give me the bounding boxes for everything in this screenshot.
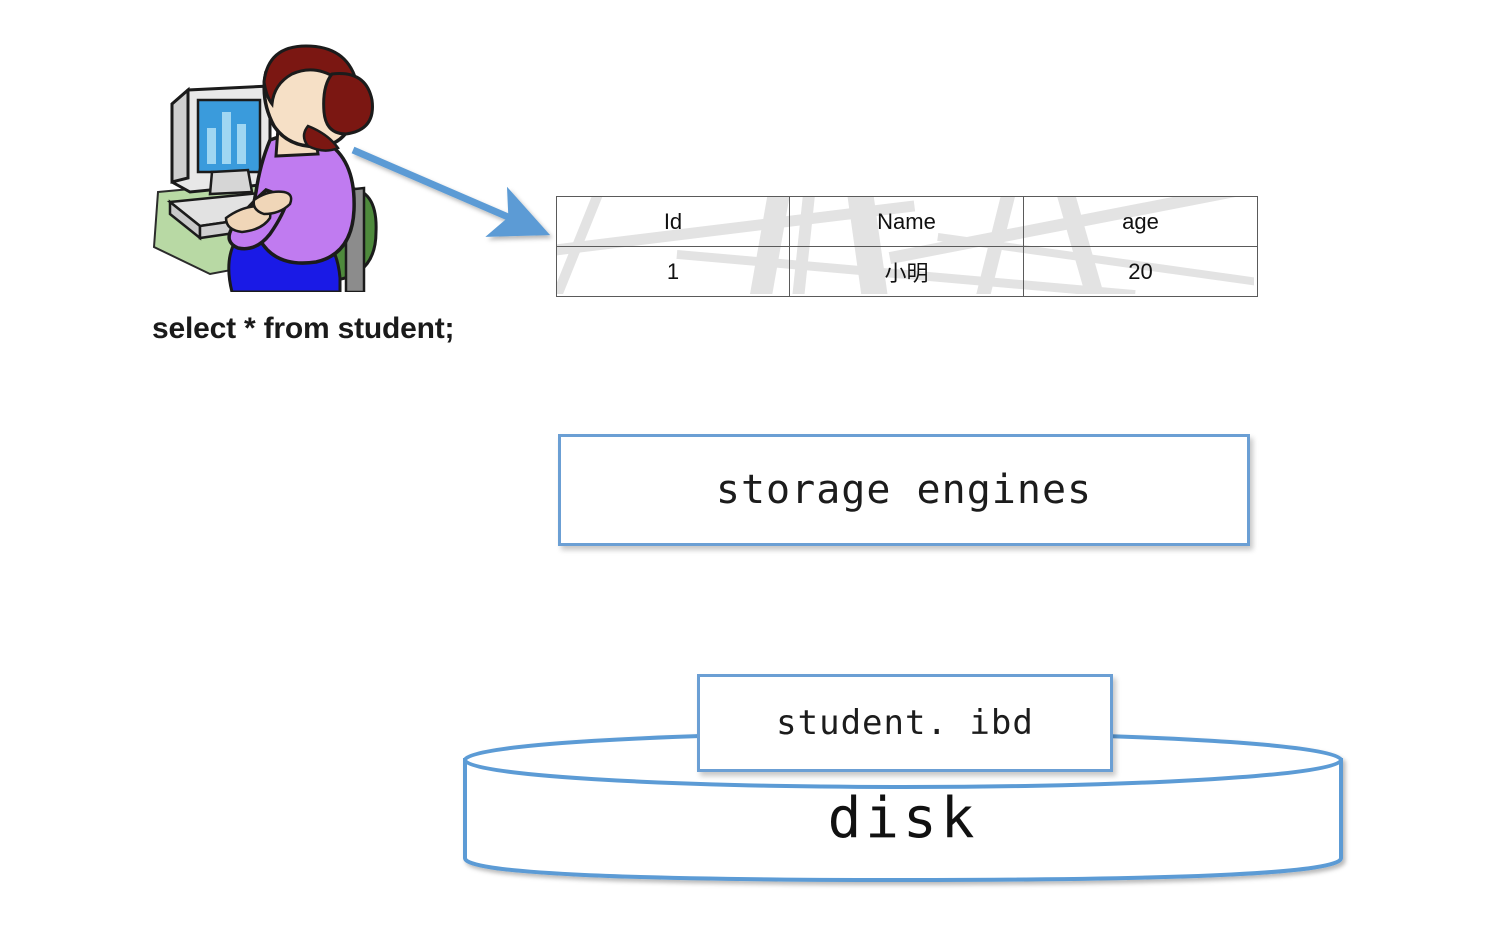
result-table: Id Name age 1 小明 20 xyxy=(556,196,1258,297)
data-file-label: student. ibd xyxy=(776,703,1034,743)
table-header-row: Id Name age xyxy=(557,197,1258,247)
table-row: 1 小明 20 xyxy=(557,247,1258,297)
data-file-box[interactable]: student. ibd xyxy=(697,674,1113,772)
table-header-name: Name xyxy=(790,197,1024,247)
table-cell-id: 1 xyxy=(557,247,790,297)
diagram-canvas: select * from student; Id Name age 1 小明 … xyxy=(0,0,1508,938)
person-at-computer-icon xyxy=(150,42,390,292)
disk-label: disk xyxy=(462,786,1344,851)
table-header-id: Id xyxy=(557,197,790,247)
table-cell-age: 20 xyxy=(1024,247,1258,297)
table-header-age: age xyxy=(1024,197,1258,247)
storage-engines-box[interactable]: storage engines xyxy=(558,434,1250,546)
sql-query-text: select * from student; xyxy=(152,312,454,346)
table-cell-name: 小明 xyxy=(790,247,1024,297)
storage-engines-label: storage engines xyxy=(716,467,1092,513)
